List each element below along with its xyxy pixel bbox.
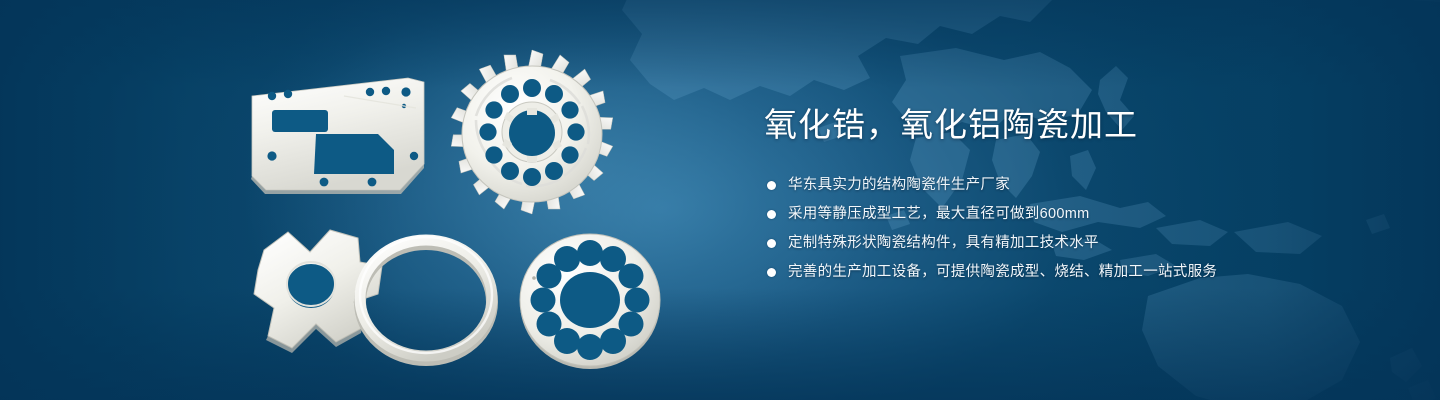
bullet-dot-icon	[767, 239, 776, 248]
feature-text: 华东具实力的结构陶瓷件生产厂家	[788, 174, 1010, 196]
bullet-dot-icon	[767, 210, 776, 219]
promo-banner: 氧化锆，氧化铝陶瓷加工 华东具实力的结构陶瓷件生产厂家 采用等静压成型工艺，最大…	[0, 0, 1440, 400]
banner-text-block: 氧化锆，氧化铝陶瓷加工 华东具实力的结构陶瓷件生产厂家 采用等静压成型工艺，最大…	[764, 104, 1364, 290]
feature-list-item: 采用等静压成型工艺，最大直径可做到600mm	[764, 203, 1364, 225]
ceramic-impeller-part	[444, 48, 620, 220]
bullet-dot-icon	[767, 181, 776, 190]
feature-list-item: 定制特殊形状陶瓷结构件，具有精加工技术水平	[764, 232, 1364, 254]
ceramic-plate-part	[248, 72, 432, 196]
feature-list: 华东具实力的结构陶瓷件生产厂家 采用等静压成型工艺，最大直径可做到600mm 定…	[764, 174, 1364, 283]
bullet-dot-icon	[767, 268, 776, 277]
feature-text: 定制特殊形状陶瓷结构件，具有精加工技术水平	[788, 232, 1099, 254]
banner-headline: 氧化锆，氧化铝陶瓷加工	[764, 104, 1364, 146]
ceramic-products-group	[0, 0, 760, 400]
feature-text: 采用等静压成型工艺，最大直径可做到600mm	[788, 203, 1089, 225]
ceramic-ring-part	[352, 226, 502, 366]
feature-text: 完善的生产加工设备，可提供陶瓷成型、烧结、精加工一站式服务	[788, 261, 1217, 283]
ceramic-hole-ring-part	[512, 226, 672, 376]
feature-list-item: 华东具实力的结构陶瓷件生产厂家	[764, 174, 1364, 196]
feature-list-item: 完善的生产加工设备，可提供陶瓷成型、烧结、精加工一站式服务	[764, 261, 1364, 283]
